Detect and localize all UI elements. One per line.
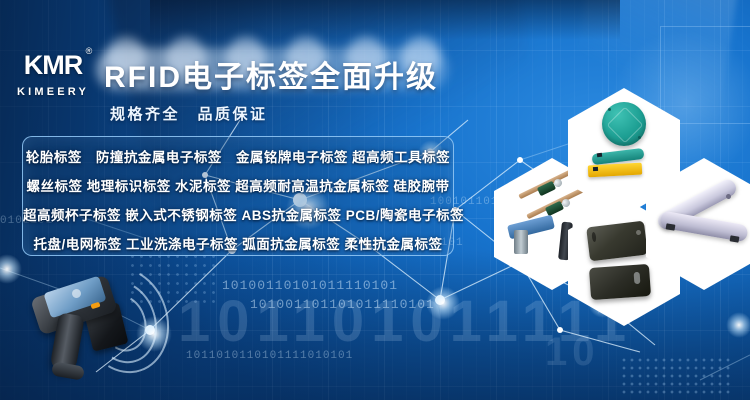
tag-row: 托盘/电网标签 工业洗涤电子标签 弧面抗金属标签 柔性抗金属标签 <box>23 230 453 259</box>
banner-title: RFID电子标签全面升级 <box>104 52 438 96</box>
glow-node-far-right <box>726 312 750 338</box>
handheld-rfid-reader <box>28 272 156 384</box>
brand-name: KIMEERY <box>12 86 94 98</box>
tag-row: 轮胎标签 防撞抗金属电子标签 金属铭牌电子标签 超高频工具标签 <box>23 143 453 172</box>
product-tag-list-panel: 轮胎标签 防撞抗金属电子标签 金属铭牌电子标签 超高频工具标签 螺丝标签 地理标… <box>22 136 454 256</box>
tag-row: 超高频杯子标签 嵌入式不锈钢标签 ABS抗金属标签 PCB/陶瓷电子标签 <box>23 201 453 230</box>
brand-logo[interactable]: KMR ® KIMEERY <box>12 52 94 98</box>
logo-mark-text: KMR <box>24 50 83 80</box>
tag-row: 螺丝标签 地理标识标签 水泥标签 超高频耐高温抗金属标签 硅胶腕带 <box>23 172 453 201</box>
glow-node-lower-mid <box>426 286 460 320</box>
rfid-promo-banner: 101101011111 10 10100110101011110101 101… <box>0 0 750 400</box>
kimeery-logo-icon: KMR ® <box>24 52 83 79</box>
registered-trademark-icon: ® <box>86 47 92 56</box>
banner-subtitle: 规格齐全 品质保证 <box>110 103 268 124</box>
